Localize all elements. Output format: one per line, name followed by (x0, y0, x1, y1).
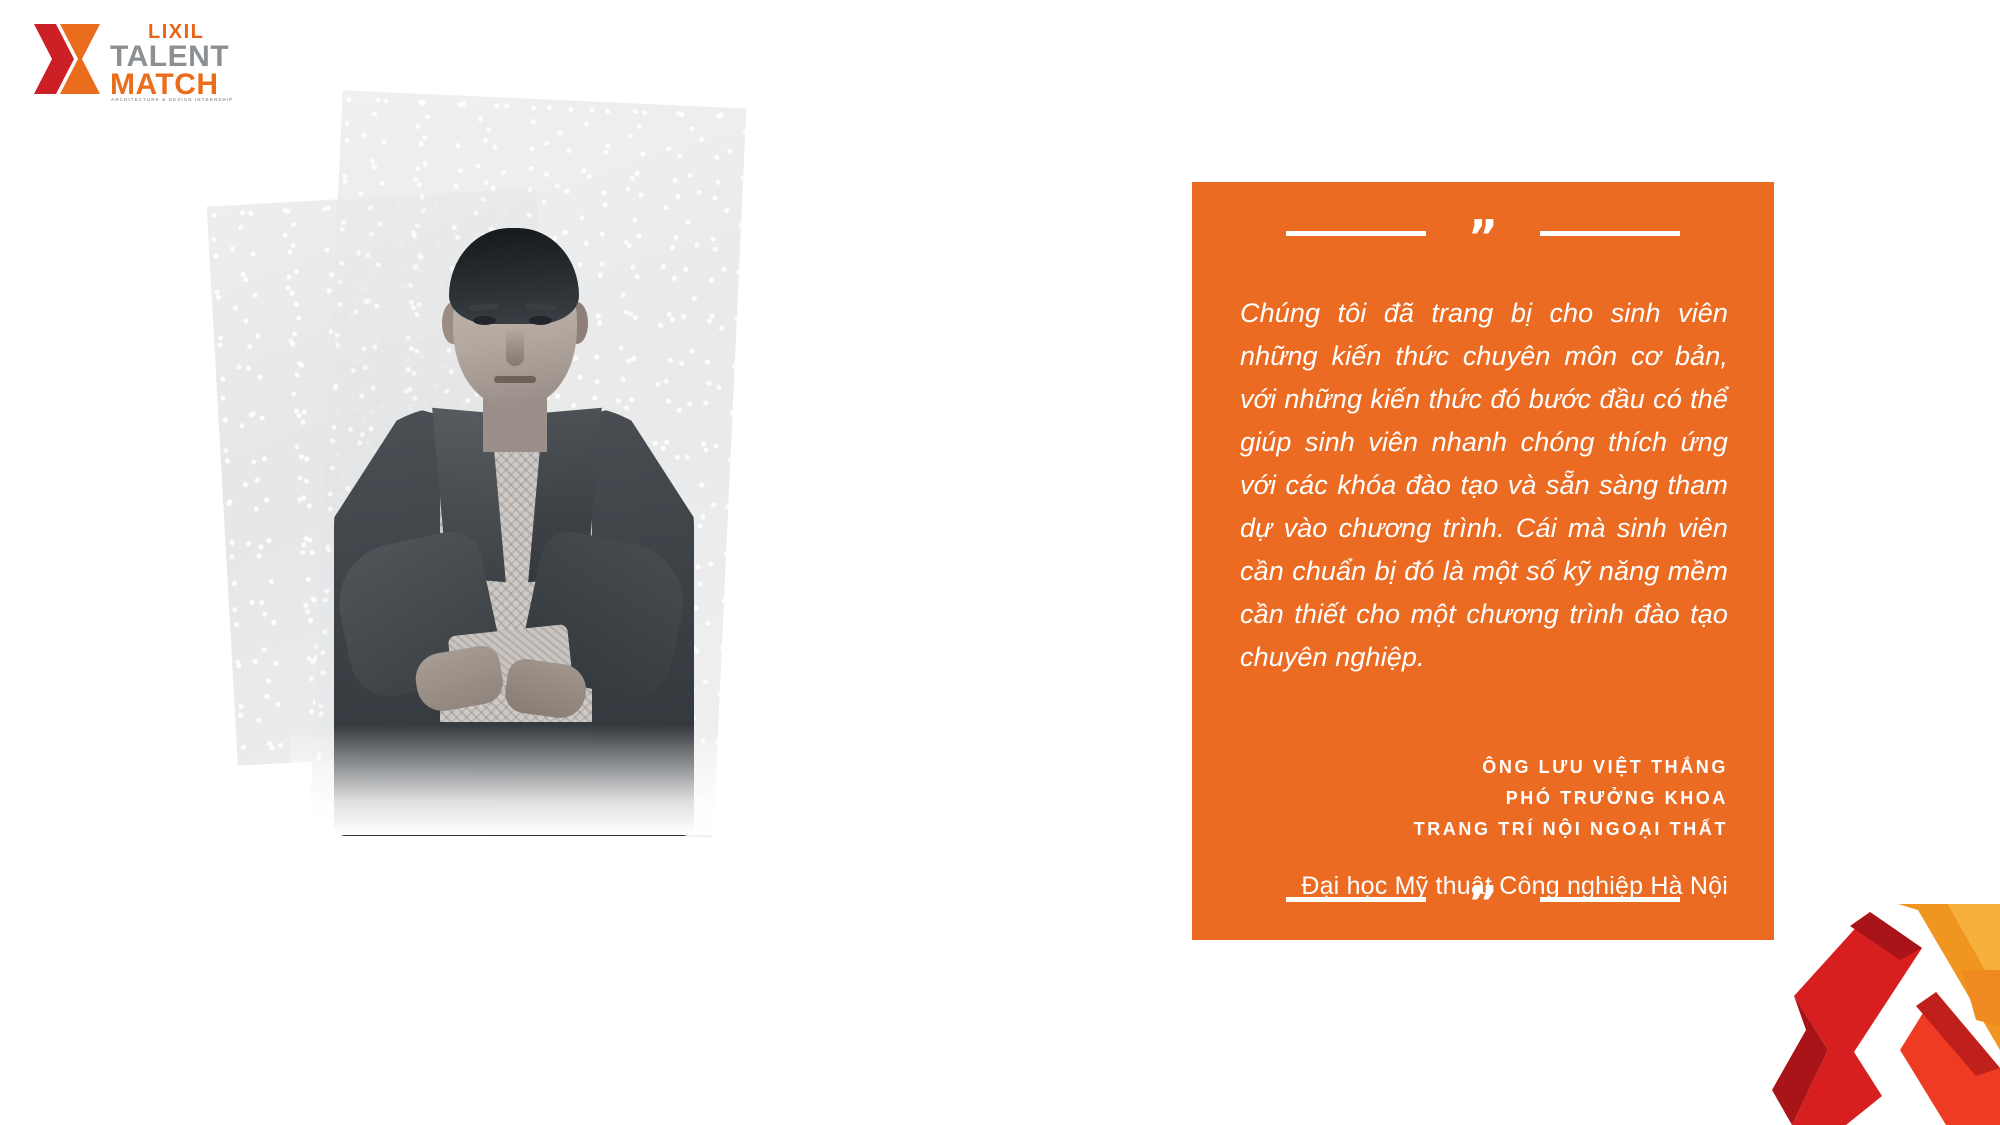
logo-lixil-text: LIXIL (148, 22, 204, 42)
portrait-nose (506, 328, 524, 366)
divider-rule-left (1286, 231, 1426, 236)
divider-rule-right (1540, 231, 1680, 236)
divider-rule-right-bottom (1540, 897, 1680, 902)
speaker-portrait-image (290, 210, 730, 835)
speaker-role: PHÓ TRƯỞNG KHOA (1240, 783, 1728, 814)
portrait-mouth (494, 376, 536, 383)
portrait-eye-left (473, 316, 496, 325)
lixil-x-logo-icon (34, 22, 100, 96)
quote-card: ” Chúng tôi đã trang bị cho sinh viên nh… (1192, 182, 1774, 940)
portrait-hair (449, 228, 579, 324)
speaker-department: TRANG TRÍ NỘI NGOẠI THẤT (1240, 814, 1728, 845)
quote-bottom-divider: ” (1192, 886, 1774, 912)
quote-text: Chúng tôi đã trang bị cho sinh viên nhữn… (1240, 292, 1728, 679)
three-dimensional-x-icon (1750, 900, 2000, 1125)
portrait-bottom-fade (290, 725, 730, 835)
speaker-name: ÔNG LƯU VIỆT THẮNG (1240, 752, 1728, 783)
portrait-composition (190, 85, 850, 875)
divider-rule-left-bottom (1286, 897, 1426, 902)
portrait-eye-right (529, 316, 552, 325)
quote-top-divider: ” (1192, 220, 1774, 246)
